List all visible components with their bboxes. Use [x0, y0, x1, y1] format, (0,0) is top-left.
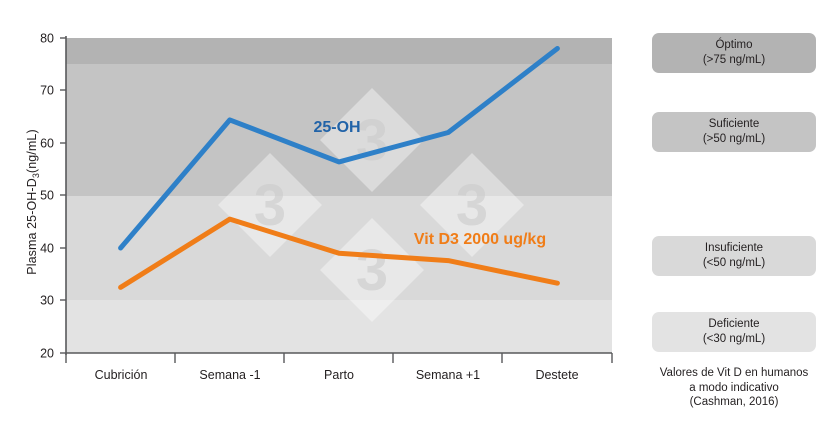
x-axis — [66, 353, 612, 363]
y-tick-70: 70 — [40, 84, 54, 98]
y-tick-20: 20 — [40, 347, 54, 361]
x-tick-labels: Cubrición Semana -1 Parto Semana +1 Dest… — [95, 368, 579, 382]
legend-deficiente-title: Deficiente — [652, 317, 816, 332]
band-optimo — [66, 38, 612, 64]
legend-box-suficiente: Suficiente (>50 ng/mL) — [652, 112, 816, 152]
legend-column: Óptimo (>75 ng/mL) Suficiente (>50 ng/mL… — [652, 0, 820, 422]
legend-note-line-1: Valores de Vit D en humanos — [652, 366, 816, 381]
legend-deficiente-subtitle: (<30 ng/mL) — [652, 332, 816, 347]
y-tick-60: 60 — [40, 137, 54, 151]
legend-note-line-2: a modo indicativo — [652, 381, 816, 396]
series-label-vitd3: Vit D3 2000 ug/kg — [414, 231, 546, 248]
legend-optimo-subtitle: (>75 ng/mL) — [652, 53, 816, 68]
y-tick-30: 30 — [40, 294, 54, 308]
legend-box-optimo: Óptimo (>75 ng/mL) — [652, 33, 816, 73]
series-label-25oh: 25-OH — [313, 119, 360, 136]
y-axis-title-prefix: Plasma 25-OH-D — [25, 178, 39, 275]
line-chart-svg: 3 — [0, 0, 645, 422]
y-tick-labels: 80 70 60 50 40 30 20 — [40, 32, 54, 361]
y-axis-title-suffix: (ng/mL) — [25, 129, 39, 173]
x-tick-0: Cubrición — [95, 368, 148, 382]
y-axis — [60, 36, 66, 355]
legend-suficiente-title: Suficiente — [652, 117, 816, 132]
x-tick-4: Destete — [535, 368, 578, 382]
x-tick-2: Parto — [324, 368, 354, 382]
x-tick-3: Semana +1 — [416, 368, 480, 382]
legend-box-deficiente: Deficiente (<30 ng/mL) — [652, 312, 816, 352]
legend-suficiente-subtitle: (>50 ng/mL) — [652, 132, 816, 147]
legend-insuficiente-subtitle: (<50 ng/mL) — [652, 256, 816, 271]
legend-insuficiente-title: Insuficiente — [652, 241, 816, 256]
legend-source-note: Valores de Vit D en humanos a modo indic… — [652, 366, 816, 410]
y-axis-title: Plasma 25-OH-D3(ng/mL) — [25, 92, 39, 312]
x-tick-1: Semana -1 — [199, 368, 260, 382]
y-tick-80: 80 — [40, 32, 54, 46]
y-tick-40: 40 — [40, 242, 54, 256]
chart-figure: 3 — [0, 0, 820, 422]
y-axis-title-subscript: 3 — [31, 173, 41, 178]
band-deficiente — [66, 300, 612, 353]
legend-box-insuficiente: Insuficiente (<50 ng/mL) — [652, 236, 816, 276]
legend-optimo-title: Óptimo — [652, 38, 816, 53]
y-tick-50: 50 — [40, 189, 54, 203]
chart-plot-area: 3 — [0, 0, 645, 422]
legend-note-line-3: (Cashman, 2016) — [652, 395, 816, 410]
